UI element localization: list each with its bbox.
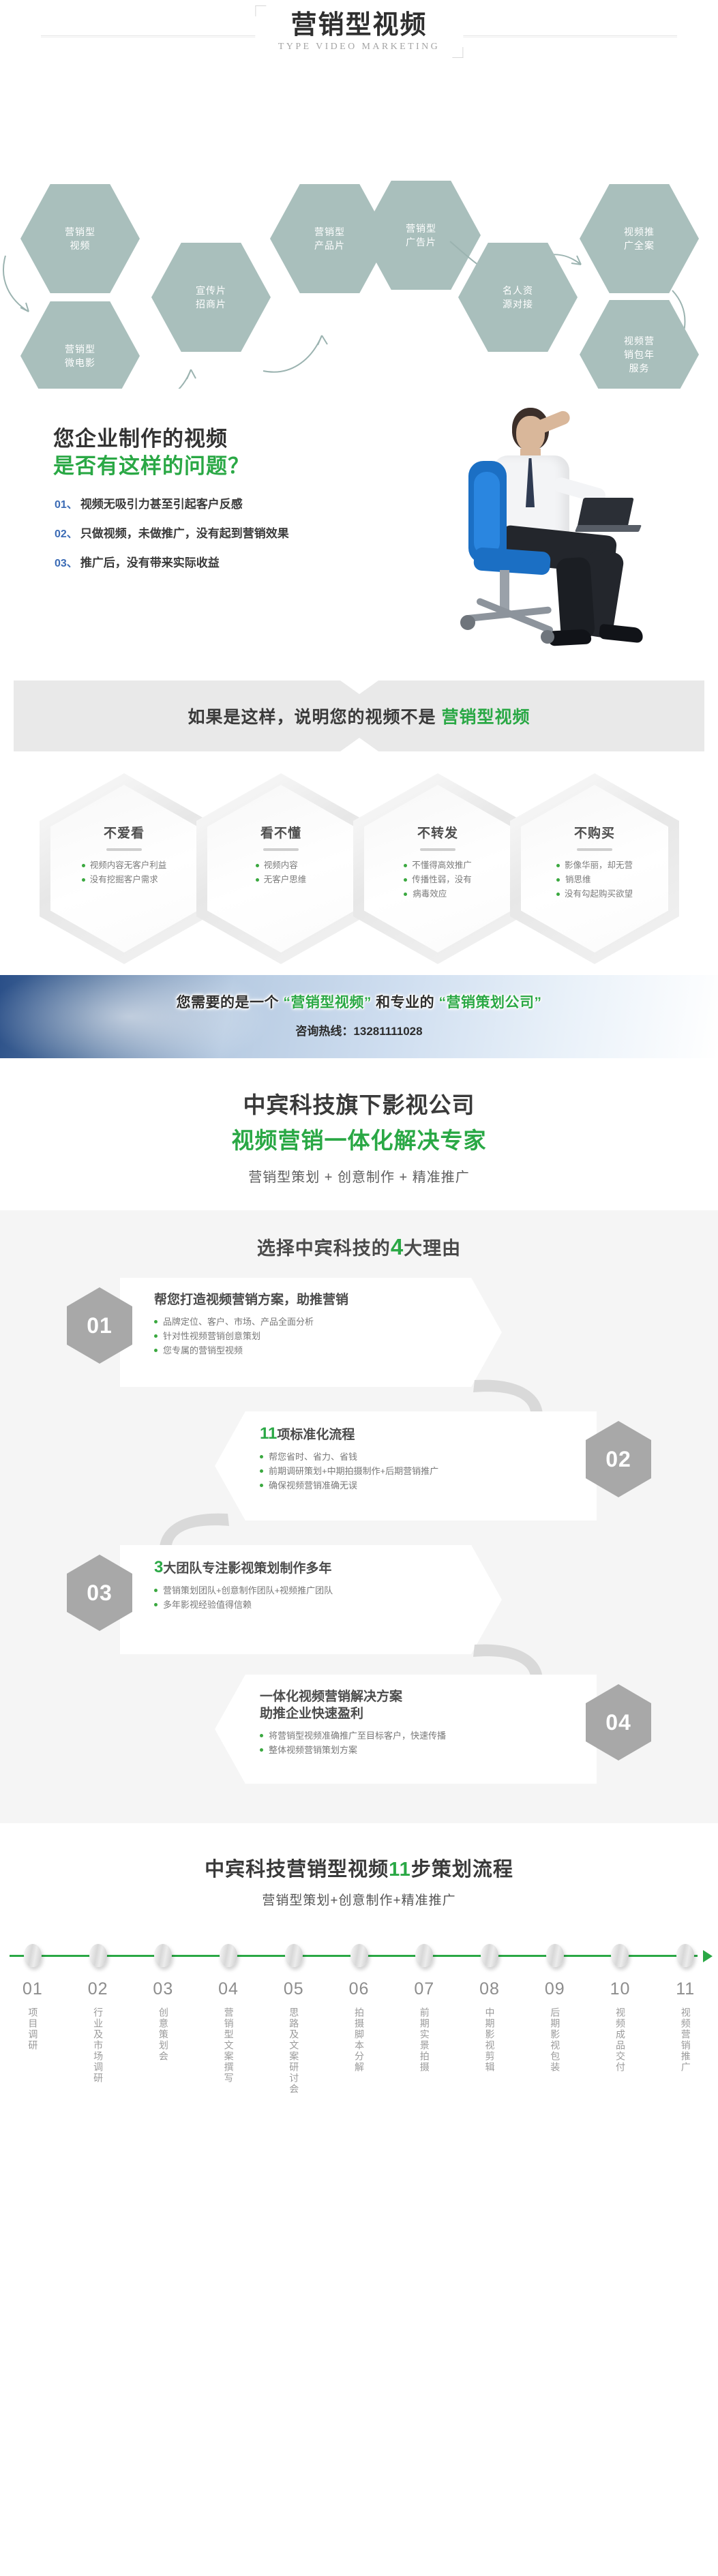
timeline-node <box>653 1944 718 1967</box>
step-label: 创意策划会 <box>155 2007 171 2062</box>
corner-bracket-top-left-icon <box>255 5 266 16</box>
process-heading: 中宾科技营销型视频11步策划流程 <box>0 1853 718 1882</box>
hotline-label: 咨询热线： <box>295 1025 353 1038</box>
company-section: 中宾科技旗下影视公司 视频营销一体化解决专家 营销型策划 + 创意制作 + 精准… <box>0 1058 718 1210</box>
step-label: 思路及文案研讨会 <box>286 2007 301 2095</box>
process-step: 04 营销型文案撰写 <box>196 1979 261 2098</box>
timeline-node <box>588 1944 653 1967</box>
reason-bullet: 针对性视频营销创意策划 <box>154 1329 475 1343</box>
sym-dont-like-watching[interactable]: 不爱看 视频内容无客户利益 没有挖掘客户需求 <box>40 773 209 964</box>
step-label: 中期影视剪辑 <box>482 2007 498 2073</box>
symptom-divider <box>420 848 455 851</box>
step-number: 06 <box>327 1979 392 1999</box>
symptom-heading: 不转发 <box>417 823 458 841</box>
reason-bullet: 您专属的营销型视频 <box>154 1343 475 1358</box>
hex-label-line1: 名人资 <box>503 284 533 297</box>
reason-title-line2: 助推企业快速盈利 <box>260 1705 580 1722</box>
symptoms-section: 不爱看 视频内容无客户利益 没有挖掘客户需求 看不懂 视频内容 无客户思维 <box>0 764 718 975</box>
hex-label-line2: 广全案 <box>624 239 655 252</box>
hotline-number: 13281111028 <box>353 1025 422 1038</box>
hex-label-line2: 广告片 <box>406 235 436 249</box>
symptom-heading: 看不懂 <box>260 823 301 841</box>
cta-text-b: 和专业的 <box>372 995 439 1010</box>
hex-label-line2: 源对接 <box>503 297 533 311</box>
timeline-dot-icon <box>676 1944 694 1967</box>
problem-item-number: 03、 <box>55 554 78 570</box>
timeline-node <box>196 1944 261 1967</box>
step-number: 02 <box>65 1979 131 1999</box>
hex-label-line1: 营销型 <box>65 342 95 356</box>
problem-list-item: 03、 推广后，没有带来实际收益 <box>55 553 289 570</box>
corner-bracket-bottom-right-icon <box>452 47 463 58</box>
reason-title-text: 大团队专注影视策划制作多年 <box>163 1561 331 1576</box>
problem-list: 01、 视频无吸引力甚至引起客户反感 02、 只做视频，未做推广，没有起到营销效… <box>55 494 289 582</box>
problem-section: 您企业制作的视频 是否有这样的问题？ 01、 视频无吸引力甚至引起客户反感 02… <box>0 389 718 668</box>
step-number: 01 <box>0 1979 65 1999</box>
timeline-dot-icon <box>481 1944 498 1967</box>
process-step: 08 中期影视剪辑 <box>457 1979 522 2098</box>
reason-bullet: 多年影视经验值得信赖 <box>154 1598 475 1612</box>
reason-content: 一体化视频营销解决方案 助推企业快速盈利 将营销型视频准确推广至目标客户，快速传… <box>260 1688 580 1757</box>
callout-prefix: 如果是这样，说明您的视频不是 <box>188 708 442 727</box>
symptom-bullet: 没有挖掘客户需求 <box>82 873 167 886</box>
timeline-dot-icon <box>611 1944 629 1967</box>
page-title: 营销型视频 <box>278 10 440 41</box>
reason-title: 3大团队专注影视策划制作多年 <box>154 1559 475 1577</box>
callout-highlight: 营销型视频 <box>441 708 530 727</box>
hex-label-line1: 营销型 <box>65 225 95 239</box>
symptom-divider <box>577 848 612 851</box>
process-step: 03 创意策划会 <box>130 1979 196 2098</box>
hex-ad-film[interactable]: 营销型 广告片 <box>361 181 481 290</box>
reasons-heading-before: 选择中宾科技的 <box>257 1238 391 1259</box>
callout-text: 如果是这样，说明您的视频不是 营销型视频 <box>188 704 530 728</box>
timeline-node <box>261 1944 327 1967</box>
step-number: 11 <box>653 1979 718 1999</box>
sym-dont-understand[interactable]: 看不懂 视频内容 无客户思维 <box>196 773 365 964</box>
symptom-divider <box>106 848 142 851</box>
hex-label-line2: 微电影 <box>65 356 95 370</box>
process-heading-before: 中宾科技营销型视频 <box>205 1859 389 1881</box>
timeline-node <box>522 1944 588 1967</box>
problem-item-text: 推广后，没有带来实际收益 <box>80 553 220 570</box>
process-subtitle: 营销型策划+创意制作+精准推广 <box>0 1890 718 1908</box>
symptom-bullet-list: 影像华丽，却无营 销思维 没有勾起购买欲望 <box>556 859 633 902</box>
hex-label-line3: 服务 <box>624 361 655 375</box>
reason-bullet: 品牌定位、客户、市场、产品全面分析 <box>154 1315 475 1329</box>
symptom-bullet: 影像华丽，却无营 <box>556 859 633 872</box>
reasons-heading-number: 4 <box>391 1234 404 1259</box>
reason-bullet: 营销策划团队+创意制作团队+视频推广团队 <box>154 1583 475 1598</box>
reason-title-line1: 一体化视频营销解决方案 <box>260 1688 580 1705</box>
timeline-dot-icon <box>546 1944 564 1967</box>
reason-bullet-list: 品牌定位、客户、市场、产品全面分析 针对性视频营销创意策划 您专属的营销型视频 <box>154 1315 475 1358</box>
cta-banner: 您需要的是一个 “营销型视频” 和专业的 “营销策划公司” 咨询热线：13281… <box>0 975 718 1058</box>
timeline-dot-icon <box>89 1944 107 1967</box>
symptom-bullet-list: 视频内容 无客户思维 <box>256 859 307 888</box>
reason-bullet-list: 将营销型视频准确推广至目标客户，快速传播 整体视频营销策划方案 <box>260 1728 580 1757</box>
process-steps: 01 项目调研 02 行业及市场调研 03 创意策划会 04 营销型文案撰写 0… <box>0 1979 718 2098</box>
hex-marketing-video[interactable]: 营销型 视频 <box>20 184 140 293</box>
timeline-dot-icon <box>154 1944 172 1967</box>
timeline-dot-icon <box>24 1944 42 1967</box>
hex-promo-film[interactable]: 宣传片 招商片 <box>151 243 271 352</box>
reason-title: 11项标准化流程 <box>260 1425 580 1443</box>
problem-item-text: 视频无吸引力甚至引起客户反感 <box>80 494 243 511</box>
cta-content: 您需要的是一个 “营销型视频” 和专业的 “营销策划公司” 咨询热线：13281… <box>0 975 718 1038</box>
symptom-bullet: 传播性弱，没有 <box>404 873 472 886</box>
callout-bar: 如果是这样，说明您的视频不是 营销型视频 <box>14 680 704 751</box>
reason-card-04[interactable]: 04 一体化视频营销解决方案 助推企业快速盈利 将营销型视频准确推广至目标客户，… <box>215 1675 678 1784</box>
problem-item-text: 只做视频，未做推广，没有起到营销效果 <box>80 524 289 541</box>
step-number: 09 <box>522 1979 588 1999</box>
hex-promotion-plan[interactable]: 视频推 广全案 <box>580 184 699 293</box>
reason-bullet-list: 帮您省时、省力、省钱 前期调研策划+中期拍摄制作+后期营销推广 确保视频营销准确… <box>260 1450 580 1493</box>
hex-label-line2: 招商片 <box>196 297 226 311</box>
process-heading-number: 11 <box>389 1859 411 1881</box>
header-title-box: 营销型视频 TYPE VIDEO MARKETING <box>255 5 463 58</box>
landing-page: 营销型视频 TYPE VIDEO MARKETING 营销型 视频 营销型 微电… <box>0 0 718 2125</box>
timeline-dot-icon <box>285 1944 303 1967</box>
company-line2: 视频营销一体化解决专家 <box>0 1122 718 1155</box>
sym-dont-buy[interactable]: 不购买 影像华丽，却无营 销思维 没有勾起购买欲望 <box>510 773 679 964</box>
symptom-bullet: 没有勾起购买欲望 <box>556 888 633 901</box>
process-timeline <box>0 1944 718 1967</box>
step-label: 视频成品交付 <box>612 2007 628 2073</box>
step-number: 05 <box>261 1979 327 1999</box>
reason-title: 帮您打造视频营销方案，助推营销 <box>154 1291 475 1308</box>
cta-headline: 您需要的是一个 “营销型视频” 和专业的 “营销策划公司” <box>0 991 718 1012</box>
symptom-divider <box>263 848 299 851</box>
timeline-dot-icon <box>220 1944 237 1967</box>
symptom-bullet-list: 视频内容无客户利益 没有挖掘客户需求 <box>82 859 167 888</box>
hex-label-line1: 视频营 <box>624 334 655 348</box>
hex-label-line1: 营销型 <box>406 222 436 235</box>
process-step: 07 前期实景拍摄 <box>391 1979 457 2098</box>
timeline-node <box>65 1944 131 1967</box>
symptom-bullet-list: 不懂得高效推广 传播性弱，没有 病毒效应 <box>404 859 472 902</box>
businessman-photo <box>398 395 684 661</box>
problem-title-line1: 您企业制作的视频 <box>53 421 228 452</box>
reason-bullet: 确保视频营销准确无误 <box>260 1478 580 1493</box>
process-step: 06 拍摄脚本分解 <box>327 1979 392 2098</box>
timeline-node <box>457 1944 522 1967</box>
cta-quote-2: “营销策划公司” <box>439 995 542 1010</box>
reason-title-number: 3 <box>154 1558 163 1576</box>
step-number: 03 <box>130 1979 196 1999</box>
cta-quote-1: “营销型视频” <box>283 995 372 1010</box>
reasons-rows: 01 帮您打造视频营销方案，助推营销 品牌定位、客户、市场、产品全面分析 针对性… <box>0 1278 718 1782</box>
reason-bullet: 整体视频营销策划方案 <box>260 1743 580 1757</box>
reason-bullet: 将营销型视频准确推广至目标客户，快速传播 <box>260 1728 580 1743</box>
process-step: 02 行业及市场调研 <box>65 1979 131 2098</box>
symptom-bullet: 视频内容无客户利益 <box>82 859 167 872</box>
problem-title-line2: 是否有这样的问题？ <box>53 449 250 479</box>
process-step: 01 项目调研 <box>0 1979 65 2098</box>
reason-bullet-list: 营销策划团队+创意制作团队+视频推广团队 多年影视经验值得信赖 <box>154 1583 475 1612</box>
reason-card-01[interactable]: 01 帮您打造视频营销方案，助推营销 品牌定位、客户、市场、产品全面分析 针对性… <box>40 1278 503 1387</box>
symptom-heading: 不购买 <box>574 823 615 841</box>
hex-label-line2: 销包年 <box>624 348 655 361</box>
hex-label-line1: 宣传片 <box>196 284 226 297</box>
process-step: 05 思路及文案研讨会 <box>261 1979 327 2098</box>
hex-celebrity[interactable]: 名人资 源对接 <box>458 243 578 352</box>
step-number: 08 <box>457 1979 522 1999</box>
step-number: 10 <box>588 1979 653 1999</box>
timeline-node <box>391 1944 457 1967</box>
reasons-heading: 选择中宾科技的4大理由 <box>0 1233 718 1260</box>
sym-dont-share[interactable]: 不转发 不懂得高效推广 传播性弱，没有 病毒效应 <box>353 773 522 964</box>
timeline-node <box>0 1944 65 1967</box>
step-label: 后期影视包装 <box>547 2007 563 2073</box>
company-line3: 营销型策划 + 创意制作 + 精准推广 <box>0 1166 718 1186</box>
problem-item-number: 01、 <box>55 495 78 511</box>
timeline-dot-icon <box>415 1944 433 1967</box>
symptom-bullet: 无客户思维 <box>256 873 307 886</box>
reason-title: 一体化视频营销解决方案 助推企业快速盈利 <box>260 1688 580 1722</box>
problem-list-item: 02、 只做视频，未做推广，没有起到营销效果 <box>55 524 289 541</box>
symptom-heading: 不爱看 <box>104 823 145 841</box>
hex-label-line1: 视频推 <box>624 225 655 239</box>
step-label: 拍摄脚本分解 <box>351 2007 367 2073</box>
curved-arrow-3-icon <box>260 329 342 378</box>
step-label: 行业及市场调研 <box>90 2007 106 2084</box>
reason-card-02[interactable]: 02 11项标准化流程 帮您省时、省力、省钱 前期调研策划+中期拍摄制作+后期营… <box>215 1411 678 1521</box>
reason-bullet: 前期调研策划+中期拍摄制作+后期营销推广 <box>260 1464 580 1478</box>
step-number: 07 <box>391 1979 457 1999</box>
hex-label-line1: 营销型 <box>314 225 345 239</box>
timeline-node <box>130 1944 196 1967</box>
symptom-bullet-cont: 销思维 <box>556 873 633 886</box>
reason-title-text: 项标准化流程 <box>277 1428 355 1442</box>
symptom-bullet: 视频内容 <box>256 859 307 872</box>
process-step: 11 视频营销推广 <box>653 1979 718 2098</box>
symptom-bullet: 不懂得高效推广 <box>404 859 472 872</box>
process-heading-after: 步策划流程 <box>411 1859 513 1881</box>
step-label: 项目调研 <box>25 2007 40 2051</box>
timeline-dot-icon <box>350 1944 368 1967</box>
step-label: 前期实景拍摄 <box>417 2007 432 2073</box>
process-step: 09 后期影视包装 <box>522 1979 588 2098</box>
page-subtitle-en: TYPE VIDEO MARKETING <box>278 42 440 53</box>
timeline-node <box>327 1944 392 1967</box>
callout-section: 如果是这样，说明您的视频不是 营销型视频 <box>0 668 718 764</box>
process-step: 10 视频成品交付 <box>588 1979 653 2098</box>
header-section: 营销型视频 TYPE VIDEO MARKETING <box>0 0 718 143</box>
symptom-bullet-cont: 病毒效应 <box>404 888 472 901</box>
cta-hotline[interactable]: 咨询热线：13281111028 <box>0 1021 718 1038</box>
reason-content: 帮您打造视频营销方案，助推营销 品牌定位、客户、市场、产品全面分析 针对性视频营… <box>154 1291 475 1358</box>
reason-content: 3大团队专注影视策划制作多年 营销策划团队+创意制作团队+视频推广团队 多年影视… <box>154 1559 475 1612</box>
step-label: 营销型文案撰写 <box>221 2007 237 2084</box>
step-label: 视频营销推广 <box>678 2007 693 2073</box>
hex-label-line2: 产品片 <box>314 239 345 252</box>
hex-label-line2: 视频 <box>65 239 95 252</box>
step-number: 04 <box>196 1979 261 1999</box>
problem-item-number: 02、 <box>55 524 78 541</box>
reasons-heading-after: 大理由 <box>404 1238 461 1259</box>
cta-text-a: 您需要的是一个 <box>176 995 283 1010</box>
company-line1: 中宾科技旗下影视公司 <box>0 1087 718 1120</box>
reason-content: 11项标准化流程 帮您省时、省力、省钱 前期调研策划+中期拍摄制作+后期营销推广… <box>260 1425 580 1493</box>
reason-card-03[interactable]: 03 3大团队专注影视策划制作多年 营销策划团队+创意制作团队+视频推广团队 多… <box>40 1545 503 1654</box>
reasons-section: 选择中宾科技的4大理由 01 帮您打造视频营销方案，助推营销 品牌定位、客户、市… <box>0 1210 718 1823</box>
process-section: 中宾科技营销型视频11步策划流程 营销型策划+创意制作+精准推广 01 <box>0 1823 718 2125</box>
problem-list-item: 01、 视频无吸引力甚至引起客户反感 <box>55 494 289 511</box>
service-hex-cluster: 营销型 视频 营销型 微电影 宣传片 招商片 营销型 <box>0 143 718 389</box>
timeline-nodes <box>0 1944 718 1967</box>
reason-title-number: 11 <box>260 1424 277 1443</box>
reason-bullet: 帮您省时、省力、省钱 <box>260 1450 580 1464</box>
